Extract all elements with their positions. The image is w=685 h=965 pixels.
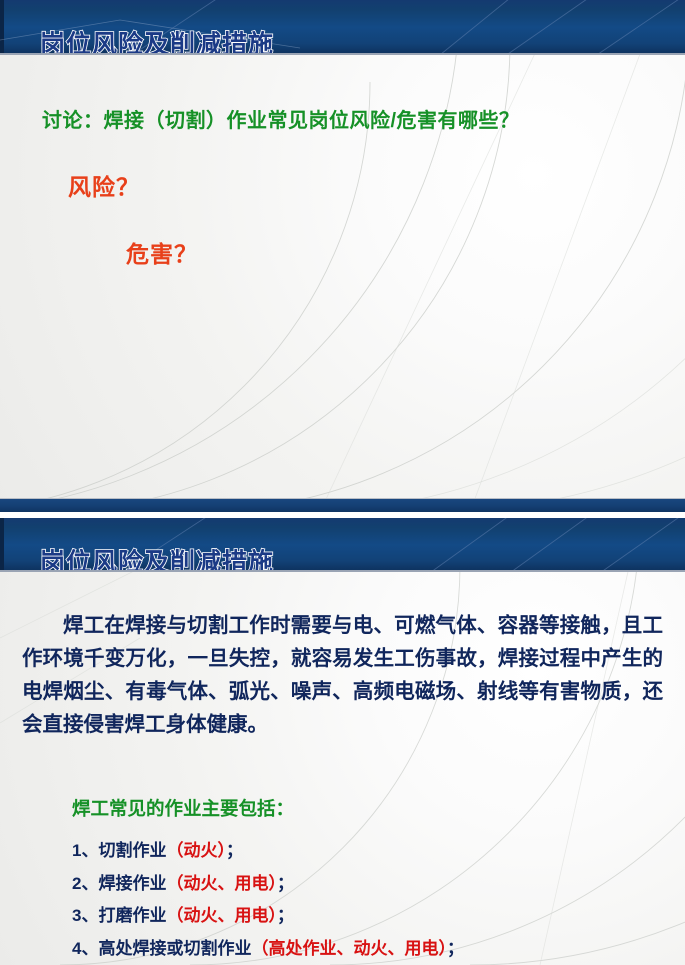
list-item-terminator: ； bbox=[447, 939, 464, 958]
list-item-number: 2、 bbox=[72, 874, 98, 893]
list-item: 2、焊接作业（动火、用电）； bbox=[72, 868, 675, 901]
list-item-terminator: ； bbox=[277, 906, 294, 925]
intro-paragraph: 焊工在焊接与切割工作时需要与电、可燃气体、容器等接触，且工作环境千变万化，一旦失… bbox=[22, 609, 663, 741]
prompt-risk: 风险？ bbox=[68, 168, 140, 202]
list-item-number: 3、 bbox=[72, 906, 98, 925]
list-item-hazard-tag: （动火、用电） bbox=[166, 906, 277, 925]
list-item-label: 高处焊接或切割作业 bbox=[98, 939, 251, 958]
slide-deck: 岗位风险及削减措施 讨论：焊接（切割）作业常见岗位风险/危害有哪些？ 风险？ 危… bbox=[0, 0, 685, 965]
list-item: 3、打磨作业（动火、用电）； bbox=[72, 900, 675, 933]
slide-1-content: 讨论：焊接（切割）作业常见岗位风险/危害有哪些？ 风险？ 危害？ bbox=[0, 0, 685, 512]
list-item-hazard-tag: （高处作业、动火、用电） bbox=[251, 939, 447, 958]
list-item-number: 1、 bbox=[72, 841, 98, 860]
list-item-label: 打磨作业 bbox=[98, 906, 166, 925]
list-item-hazard-tag: （动火） bbox=[166, 841, 226, 860]
list-item-terminator: ； bbox=[226, 841, 243, 860]
list-item-label: 焊接作业 bbox=[98, 874, 166, 893]
discussion-question: 讨论：焊接（切割）作业常见岗位风险/危害有哪些？ bbox=[42, 104, 520, 133]
slide-2-title: 岗位风险及削减措施 bbox=[40, 542, 274, 572]
list-item-label: 切割作业 bbox=[98, 841, 166, 860]
operations-subheading: 焊工常见的作业主要包括： bbox=[72, 795, 294, 821]
list-item-number: 4、 bbox=[72, 939, 98, 958]
list-item-hazard-tag: （动火、用电） bbox=[166, 874, 277, 893]
list-item-terminator: ； bbox=[277, 874, 294, 893]
slide-1-footer-bar bbox=[0, 498, 685, 512]
slide-2: 岗位风险及削减措施 焊工在焊接与切割工作时需要与电、可燃气体、容器等接触，且工作… bbox=[0, 518, 685, 965]
slide-2-content: 焊工在焊接与切割工作时需要与电、可燃气体、容器等接触，且工作环境千变万化，一旦失… bbox=[0, 570, 685, 965]
list-item: 4、高处焊接或切割作业（高处作业、动火、用电）； bbox=[72, 933, 675, 965]
prompt-harm: 危害？ bbox=[126, 235, 198, 269]
slide-1: 岗位风险及削减措施 讨论：焊接（切割）作业常见岗位风险/危害有哪些？ 风险？ 危… bbox=[0, 0, 685, 512]
list-item: 1、切割作业（动火）； bbox=[72, 835, 675, 868]
operations-list: 1、切割作业（动火）；2、焊接作业（动火、用电）；3、打磨作业（动火、用电）；4… bbox=[72, 835, 675, 965]
slide-2-title-bar: 岗位风险及削减措施 bbox=[0, 518, 685, 572]
